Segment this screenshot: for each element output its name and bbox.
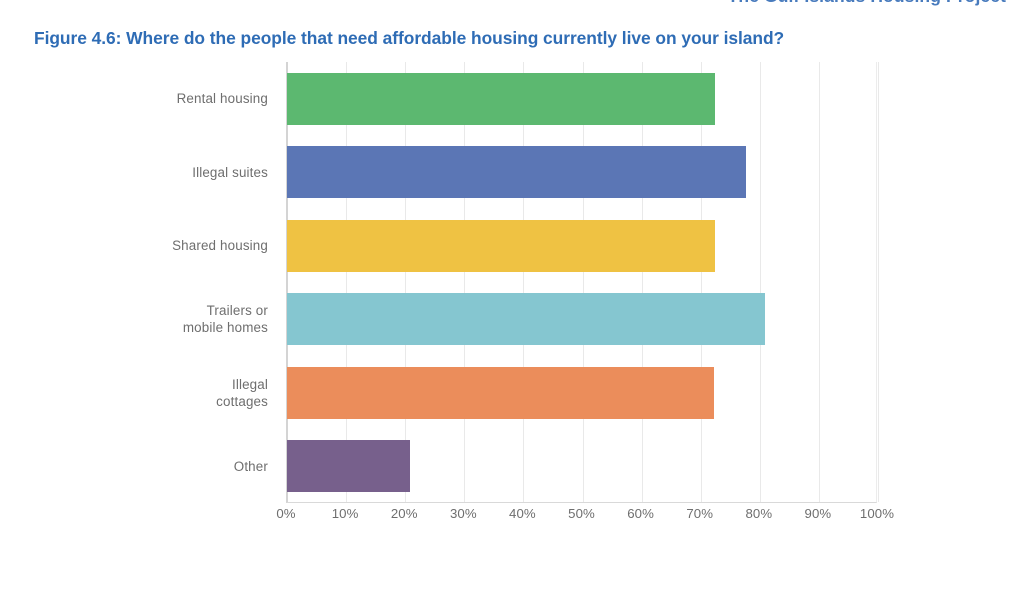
x-tick-label: 40% xyxy=(509,506,536,521)
bar-other[interactable] xyxy=(287,440,410,492)
figure-title: Figure 4.6: Where do the people that nee… xyxy=(34,28,784,49)
bar-rows xyxy=(287,62,876,502)
bar-shared-housing[interactable] xyxy=(287,220,715,272)
category-label-line: Rental housing xyxy=(40,90,268,107)
bar-row xyxy=(287,209,876,283)
gridline-100 xyxy=(878,62,879,502)
bar-rental-housing[interactable] xyxy=(287,73,715,125)
bar-chart: Rental housingIllegal suitesShared housi… xyxy=(0,62,1024,547)
x-tick-label: 60% xyxy=(627,506,654,521)
bar-row xyxy=(287,356,876,430)
x-tick-label: 90% xyxy=(805,506,832,521)
category-label: Trailers ormobile homes xyxy=(40,302,268,336)
x-tick-label: 10% xyxy=(332,506,359,521)
category-label-line: Trailers or xyxy=(40,302,268,319)
x-tick-label: 80% xyxy=(745,506,772,521)
category-label-line: Shared housing xyxy=(40,237,268,254)
bar-row xyxy=(287,430,876,504)
bar-row xyxy=(287,62,876,136)
x-tick-label: 50% xyxy=(568,506,595,521)
category-label-line: Illegal suites xyxy=(40,164,268,181)
x-tick-label: 70% xyxy=(686,506,713,521)
plot-area xyxy=(286,62,877,503)
category-label: Illegalcottages xyxy=(40,376,268,410)
x-tick-label: 20% xyxy=(391,506,418,521)
bar-trailers-or-mobile-homes[interactable] xyxy=(287,293,765,345)
category-label: Rental housing xyxy=(40,90,268,107)
bar-row xyxy=(287,283,876,357)
category-label: Other xyxy=(40,458,268,475)
page-running-header: The Gulf Islands Housing Project xyxy=(728,0,1006,6)
x-tick-label: 0% xyxy=(276,506,295,521)
bar-illegal-cottages[interactable] xyxy=(287,367,714,419)
category-label-line: Illegal xyxy=(40,376,268,393)
category-label-line: Other xyxy=(40,458,268,475)
bar-row xyxy=(287,136,876,210)
x-tick-label: 30% xyxy=(450,506,477,521)
x-tick-label: 100% xyxy=(860,506,894,521)
bar-illegal-suites[interactable] xyxy=(287,146,746,198)
category-label: Illegal suites xyxy=(40,164,268,181)
category-axis-labels: Rental housingIllegal suitesShared housi… xyxy=(40,62,278,503)
category-label-line: mobile homes xyxy=(40,319,268,336)
category-label-line: cottages xyxy=(40,393,268,410)
value-axis-labels: 0%10%20%30%40%50%60%70%80%90%100% xyxy=(286,506,877,532)
category-label: Shared housing xyxy=(40,237,268,254)
